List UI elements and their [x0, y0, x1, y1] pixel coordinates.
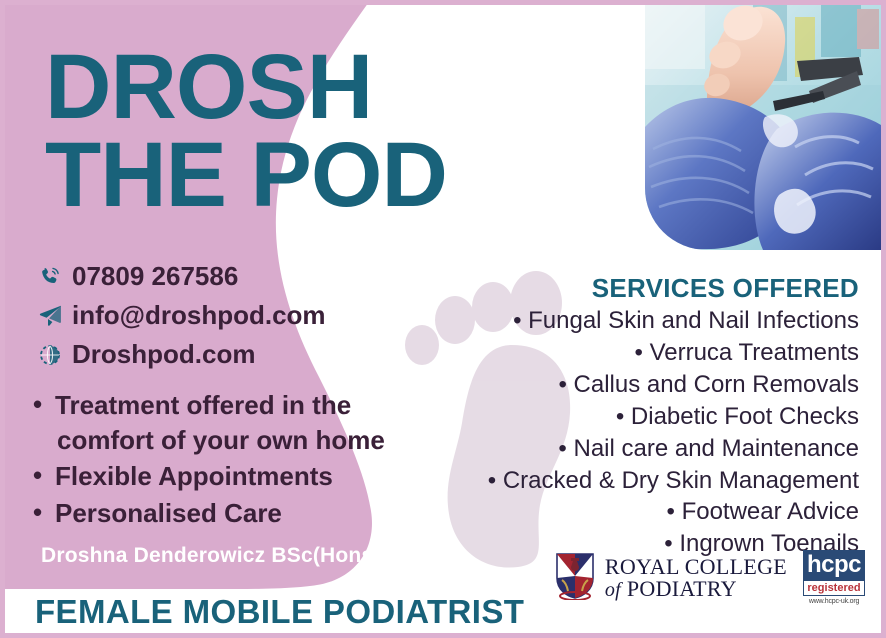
contact-phone-label: 07809 267586	[72, 261, 238, 292]
contact-block: 07809 267586 info@droshpod.com Drosh	[37, 257, 326, 374]
service-item: • Diabetic Foot Checks	[339, 401, 859, 433]
royal-college-of-podiatry-logo: ROYAL COLLEGE of PODIATRY	[553, 550, 787, 605]
paper-plane-icon	[37, 303, 63, 329]
benefit-item-1-line1: Treatment offered in the	[55, 390, 351, 420]
royal-college-line-1: ROYAL COLLEGE	[605, 556, 787, 578]
podiatrist-photo	[645, 0, 886, 250]
phone-icon	[37, 264, 63, 290]
headline-line-1: DROSH	[45, 43, 447, 131]
services-title: SERVICES OFFERED	[339, 273, 859, 304]
contact-email-label: info@droshpod.com	[72, 300, 326, 331]
service-item: • Cracked & Dry Skin Management	[339, 465, 859, 497]
royal-college-podiatry-word: PODIATRY	[627, 576, 737, 601]
royal-college-line-2: of PODIATRY	[605, 578, 787, 600]
services-list: • Fungal Skin and Nail Infections • Verr…	[339, 305, 859, 560]
royal-college-wordmark: ROYAL COLLEGE of PODIATRY	[605, 556, 787, 600]
service-item: • Fungal Skin and Nail Infections	[339, 305, 859, 337]
contact-email-row[interactable]: info@droshpod.com	[37, 296, 326, 335]
service-item: • Footwear Advice	[339, 496, 859, 528]
hcpc-url: www.hcpc-uk.org	[803, 596, 865, 605]
services-block: SERVICES OFFERED • Fungal Skin and Nail …	[339, 273, 859, 560]
royal-college-crest-icon	[553, 550, 597, 605]
hcpc-status: registered	[803, 581, 865, 596]
benefit-item-3-line1: Personalised Care	[55, 498, 282, 528]
practitioner-name: Droshna Denderowicz BSc(Hons)	[41, 544, 381, 568]
flyer-poster: DROSH THE POD 07809 267586	[0, 0, 886, 638]
royal-college-of-word: of	[605, 579, 621, 601]
contact-website-row[interactable]: Droshpod.com	[37, 335, 326, 374]
bottom-banner-text: FEMALE MOBILE PODIATRIST	[35, 593, 524, 631]
headline-line-2: THE POD	[45, 131, 447, 219]
globe-icon	[37, 342, 63, 368]
benefit-item-2-line1: Flexible Appointments	[55, 461, 333, 491]
service-item: • Callus and Corn Removals	[339, 369, 859, 401]
service-item: • Verruca Treatments	[339, 337, 859, 369]
service-item: • Nail care and Maintenance	[339, 433, 859, 465]
contact-website-label: Droshpod.com	[72, 339, 255, 370]
hcpc-registered-logo: hcpc registered www.hcpc-uk.org	[803, 550, 865, 604]
accreditation-logos: ROYAL COLLEGE of PODIATRY hcpc registere…	[553, 550, 865, 605]
page-title: DROSH THE POD	[45, 43, 447, 220]
contact-phone-row[interactable]: 07809 267586	[37, 257, 326, 296]
hcpc-name: hcpc	[803, 550, 865, 580]
